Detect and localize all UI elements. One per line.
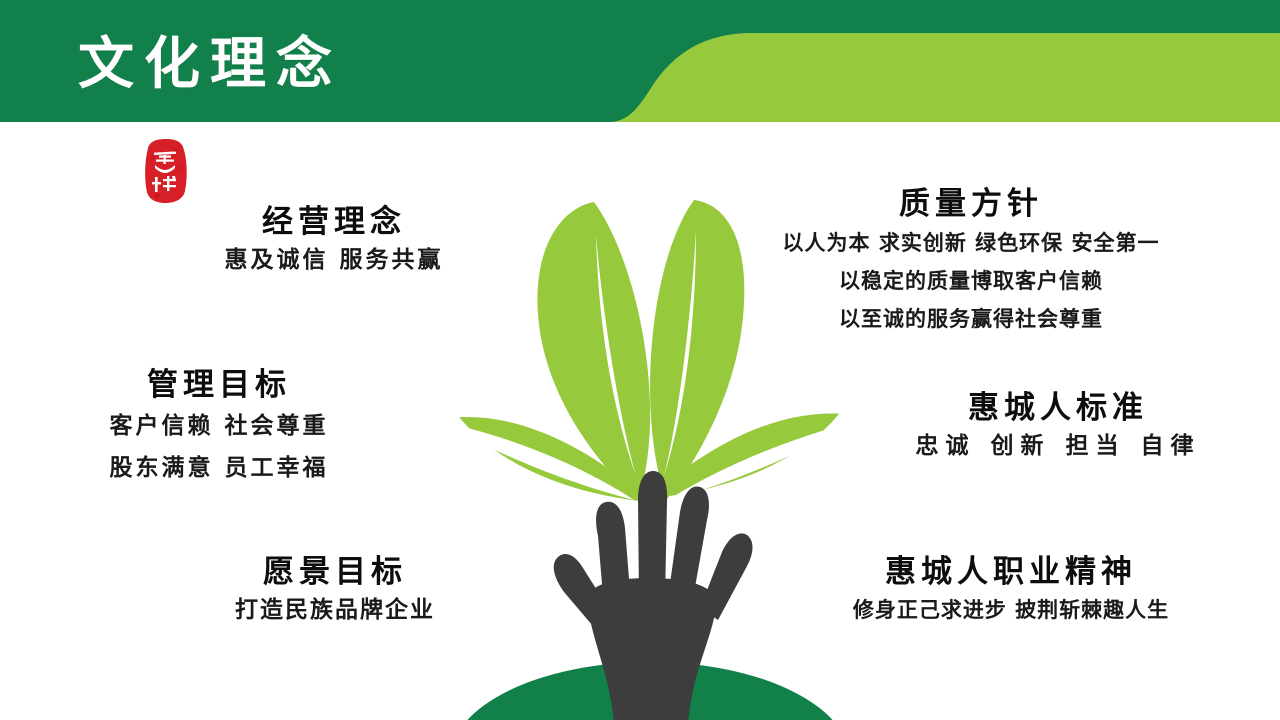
block-yuanjing-line-1: 打造民族品牌企业 [190,592,480,628]
block-guanli-heading: 管理目标 [64,365,374,405]
huicheng-seal-logo [141,138,189,204]
block-zhiliang-line-3: 以至诚的服务赢得社会尊重 [756,300,1186,338]
header-underline [0,122,1280,130]
block-zhiliang-line-1: 以人为本 求实创新 绿色环保 安全第一 [756,224,1186,262]
seal-body [145,139,187,203]
slide-canvas: 文化理念 [0,0,1280,720]
block-biaozhun-line-1: 忠诚 创新 担当 自律 [898,428,1218,464]
block-jingshen-line-1: 修身正己求进步 披荆斩棘趣人生 [796,592,1226,628]
block-guanli-line-2: 股东满意 员工幸福 [64,447,374,489]
block-guanli-mubiao: 管理目标 客户信赖 社会尊重 股东满意 员工幸福 [64,365,374,489]
block-biaozhun-heading: 惠城人标准 [898,388,1218,428]
block-guanli-line-1: 客户信赖 社会尊重 [64,405,374,447]
block-jingying-linian: 经营理念 惠及诚信 服务共赢 [184,202,484,278]
block-jingying-line-1: 惠及诚信 服务共赢 [184,242,484,278]
page-title: 文化理念 [78,34,342,96]
block-huicheng-biaozhun: 惠城人标准 忠诚 创新 担当 自律 [898,388,1218,464]
header-light-curve [608,33,1280,122]
slide-header: 文化理念 [0,0,1280,130]
block-jingshen-heading: 惠城人职业精神 [796,552,1226,592]
block-jingying-heading: 经营理念 [184,202,484,242]
block-yuanjing-heading: 愿景目标 [190,552,480,592]
block-zhiliang-heading: 质量方针 [756,184,1186,224]
block-yuanjing-mubiao: 愿景目标 打造民族品牌企业 [190,552,480,628]
block-huicheng-zhiye-jingshen: 惠城人职业精神 修身正己求进步 披荆斩棘趣人生 [796,552,1226,628]
block-zhiliang-line-2: 以稳定的质量博取客户信赖 [756,262,1186,300]
block-zhiliang-fangzhen: 质量方针 以人为本 求实创新 绿色环保 安全第一 以稳定的质量博取客户信赖 以至… [756,184,1186,338]
